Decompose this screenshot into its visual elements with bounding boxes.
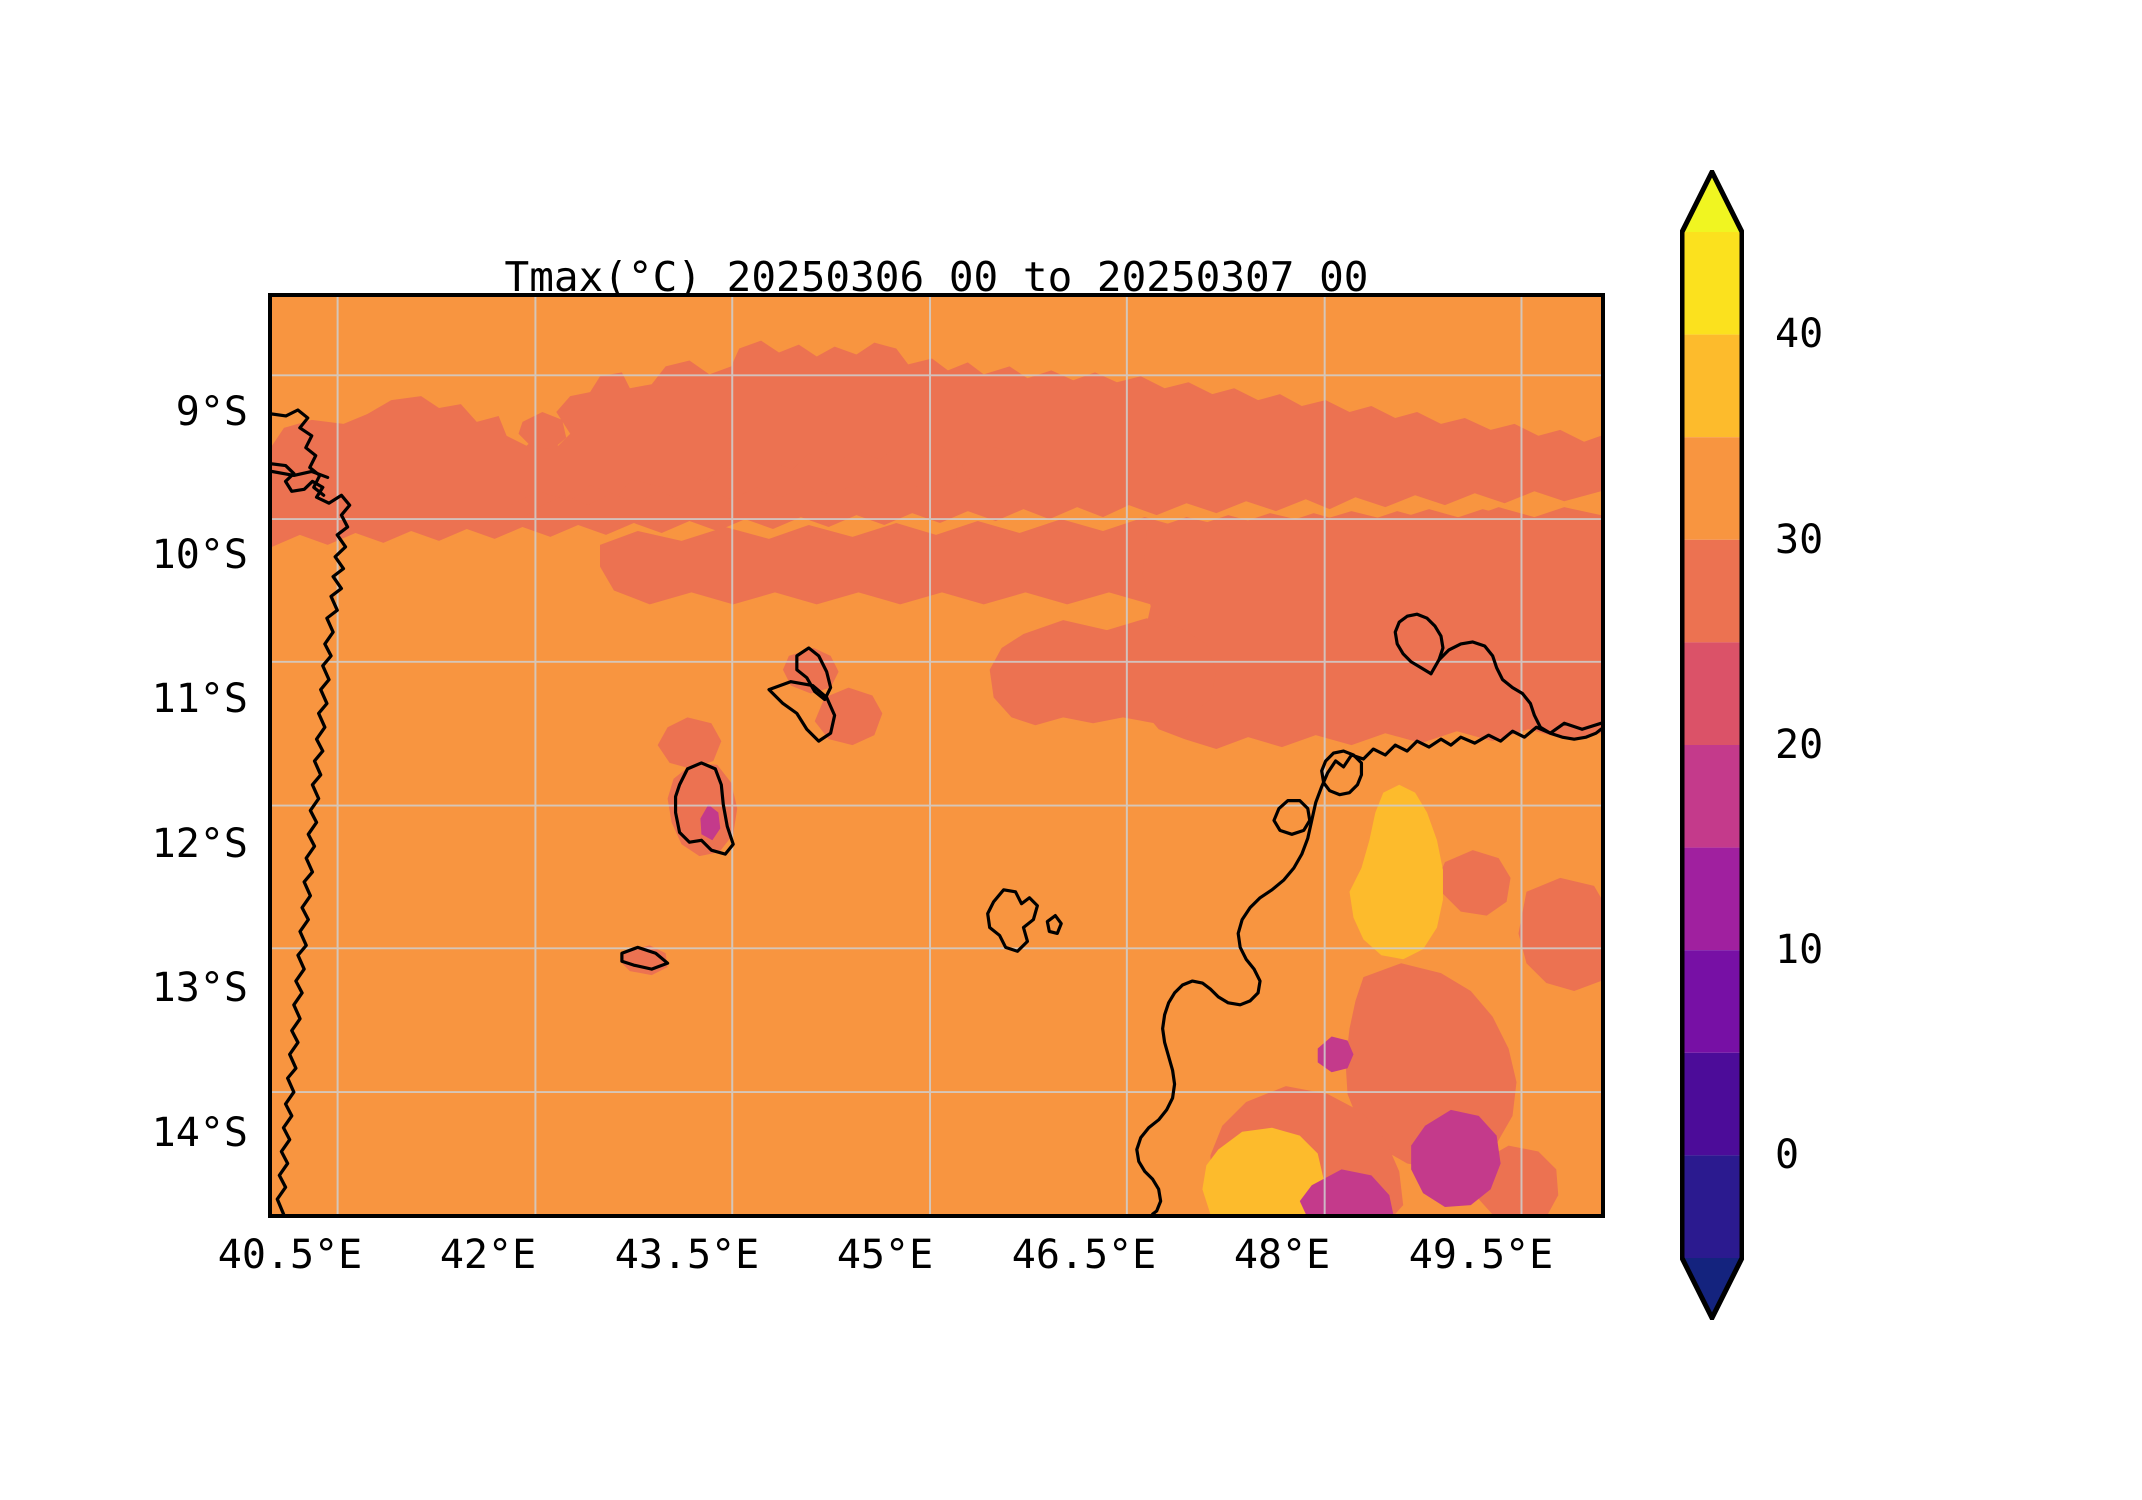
colorbar-gradient [1680,170,1744,1320]
map-axes [268,293,1605,1218]
xtick-label-1: 42°E [440,1232,536,1278]
xtick-label-5: 48°E [1234,1232,1330,1278]
xtick-label-3: 45°E [837,1232,933,1278]
colorbar-tick-label-40: 40 [1775,311,1823,357]
figure-canvas: Tmax(°C) 20250306_00 to 20250307_00 Simu… [0,0,2142,1500]
ytick-label-3: 12°S [152,821,248,867]
xtick-label-2: 43.5°E [615,1232,760,1278]
colorbar-extend-min [1682,1258,1742,1318]
colorbar-band-10-15 [1682,848,1742,951]
colorbar-band-35-40 [1682,335,1742,438]
xtick-label-6: 49.5°E [1409,1232,1554,1278]
colorbar-tick-label-30: 30 [1775,517,1823,563]
colorbar-band-m5-0 [1682,1155,1742,1258]
colorbar-band-20-25 [1682,642,1742,745]
ytick-label-5: 14°S [152,1110,248,1156]
colorbar-band-40-45 [1682,232,1742,335]
contour-polygon [990,618,1217,725]
colorbar-band-30-35 [1682,437,1742,540]
xtick-label-4: 46.5°E [1012,1232,1157,1278]
colorbar-tick-label-10: 10 [1775,927,1823,973]
colorbar-band-15-20 [1682,745,1742,848]
ytick-label-1: 10°S [152,532,248,578]
colorbar-extend-max [1682,172,1742,232]
contour-polygon [1135,507,1601,749]
xtick-label-0: 40.5°E [218,1232,363,1278]
map-plot-area [272,297,1601,1214]
colorbar-band-0-5 [1682,1053,1742,1156]
ytick-label-0: 9°S [176,389,248,435]
colorbar [1680,170,1744,1320]
ytick-label-2: 11°S [152,676,248,722]
colorbar-band-5-10 [1682,950,1742,1053]
ytick-label-4: 13°S [152,965,248,1011]
colorbar-band-25-30 [1682,540,1742,643]
temperature-contour-map [272,297,1601,1214]
colorbar-tick-label-20: 20 [1775,722,1823,768]
colorbar-tick-label-0: 0 [1775,1132,1799,1178]
